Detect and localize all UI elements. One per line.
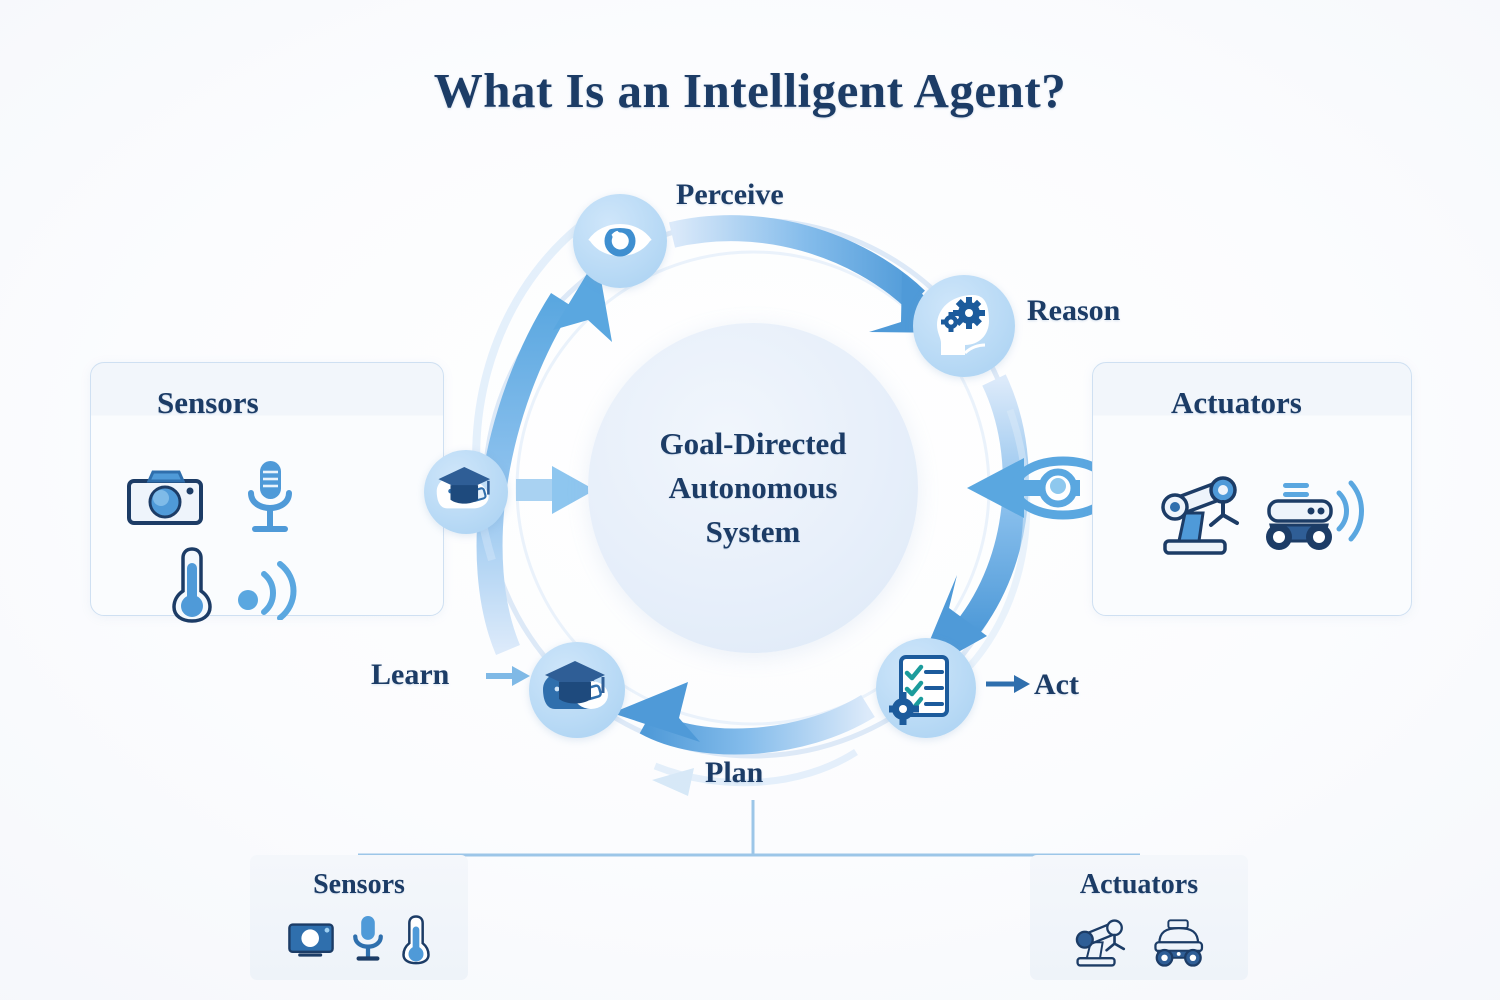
- bottom-box-actuators-title: Actuators: [1030, 869, 1248, 901]
- panel-sensors-icons: [91, 441, 443, 615]
- panel-actuators-icons: [1093, 441, 1411, 615]
- signal-waves-icon: [236, 556, 312, 620]
- bottom-box-sensors: Sensors: [250, 855, 468, 980]
- arrow-act-to-learn: [612, 682, 868, 742]
- center-label: Goal-Directed Autonomous System: [659, 422, 846, 554]
- stage-label-perceive: Perceive: [676, 178, 784, 212]
- robot-arm-icon: [1067, 913, 1133, 969]
- graduation-cap-icon: [541, 659, 613, 721]
- stage-label-reason: Reason: [1027, 294, 1120, 328]
- panel-actuators: Actuators: [1092, 362, 1412, 616]
- thermometer-icon: [401, 913, 431, 965]
- node-learn-secondary[interactable]: [424, 450, 508, 534]
- panel-sensors-title: Sensors: [91, 385, 259, 421]
- panel-sensors: Sensors: [90, 362, 444, 616]
- diagram-canvas: What Is an Intelligent Agent? Sensors: [0, 0, 1500, 1000]
- node-learn[interactable]: [529, 642, 625, 738]
- bottom-box-sensors-icons: [250, 913, 468, 965]
- checklist-gear-icon: [889, 651, 963, 725]
- microphone-icon: [351, 914, 385, 964]
- arrow-left-node-to-center: [516, 466, 595, 514]
- panel-actuators-title: Actuators: [1093, 385, 1302, 421]
- page-title: What Is an Intelligent Agent?: [0, 62, 1500, 119]
- arrow-to-learn-node: [484, 662, 532, 690]
- node-perceive[interactable]: [573, 194, 667, 288]
- camera-icon: [123, 467, 207, 531]
- head-gears-icon: [927, 291, 1001, 361]
- graduation-cap-icon: [435, 465, 497, 519]
- bottom-box-actuators: Actuators: [1030, 855, 1248, 980]
- bottom-box-sensors-title: Sensors: [250, 869, 468, 901]
- thermometer-icon: [171, 543, 213, 623]
- actuator-feedback-arrow: [967, 458, 1111, 518]
- camera-icon: [287, 918, 335, 960]
- arrow-to-act-label: [984, 670, 1032, 698]
- robot-rover-icon: [1261, 463, 1369, 555]
- bottom-tree-connector: [358, 800, 1140, 905]
- eye-icon: [587, 217, 653, 265]
- robot-arm-icon: [1149, 465, 1249, 557]
- bottom-box-actuators-icons: [1030, 913, 1248, 969]
- robot-rover-icon: [1149, 913, 1211, 969]
- center-circle: Goal-Directed Autonomous System: [588, 323, 918, 653]
- arrow-reason-to-act: [915, 380, 1016, 676]
- stage-label-learn: Learn: [371, 658, 449, 692]
- microphone-icon: [243, 457, 297, 541]
- node-reason[interactable]: [913, 275, 1015, 377]
- stage-label-plan: Plan: [705, 756, 763, 790]
- node-act[interactable]: [876, 638, 976, 738]
- stage-label-act: Act: [1034, 668, 1079, 702]
